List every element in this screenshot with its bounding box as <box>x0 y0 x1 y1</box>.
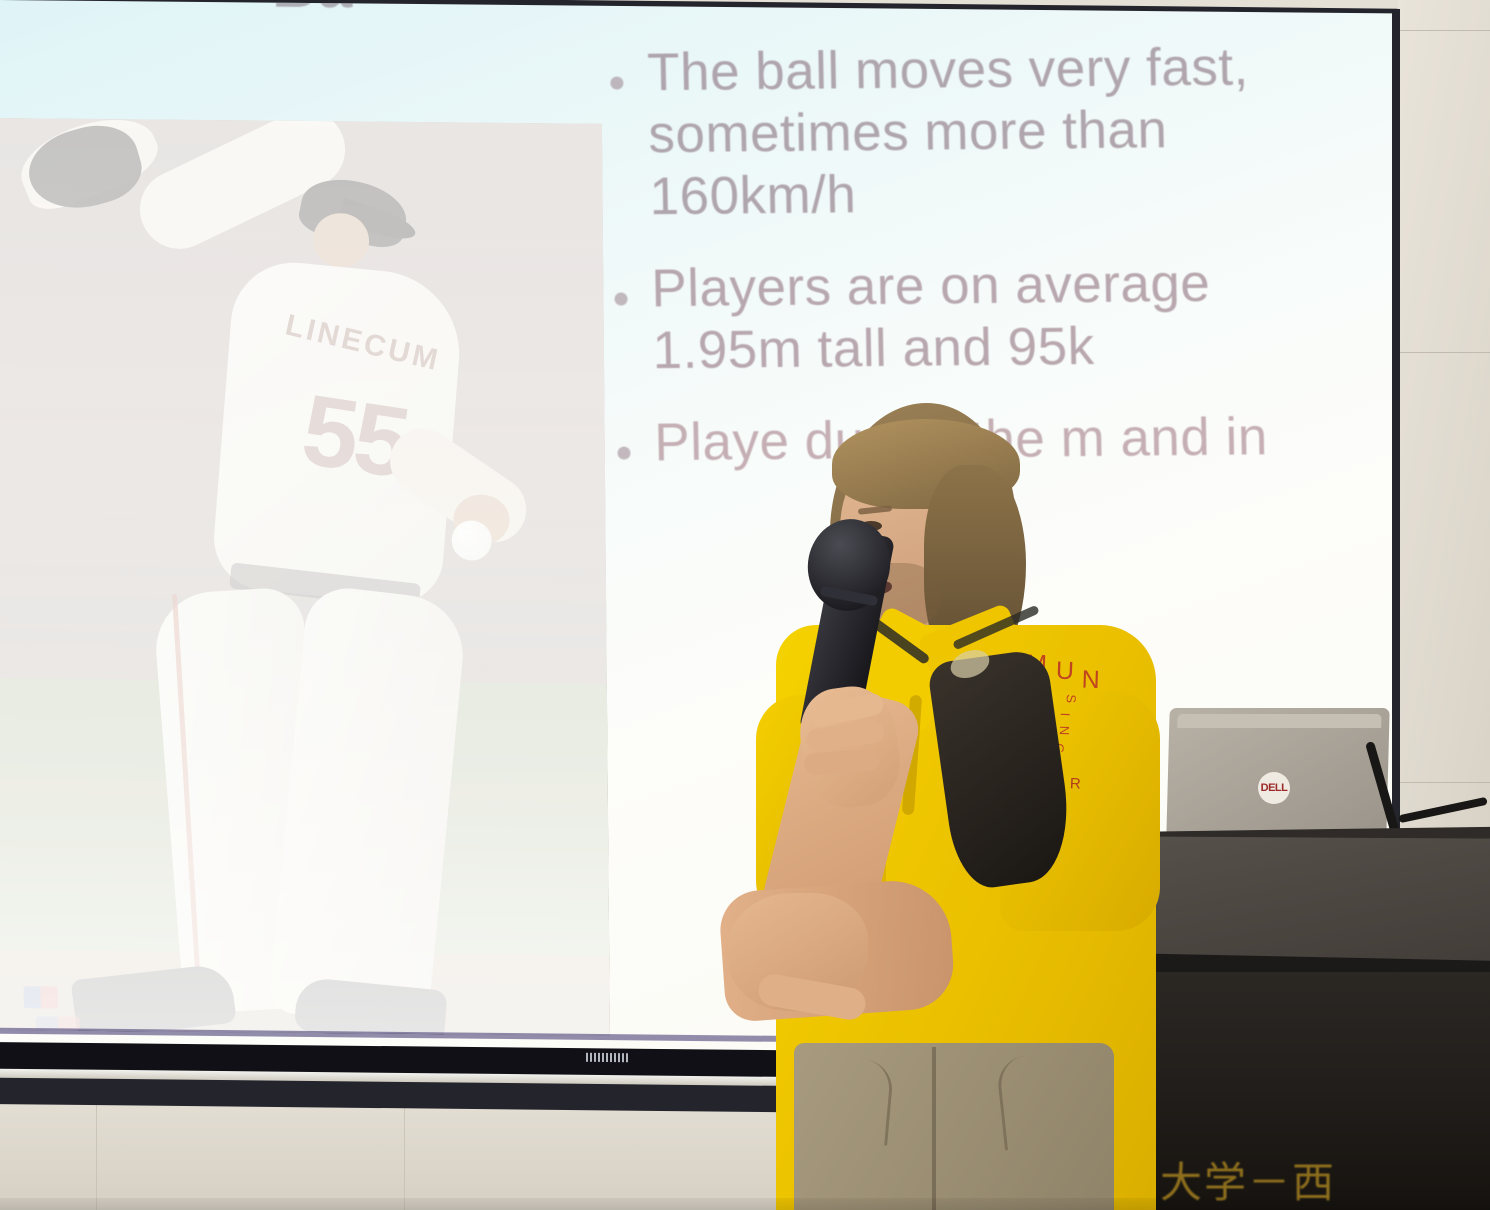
room-wall-right-panel <box>1398 0 1490 900</box>
logo-letter: N <box>1081 666 1100 696</box>
bullet-dot-icon <box>617 446 630 459</box>
screen-brand-logo-icon <box>586 1053 628 1062</box>
wall-seam <box>404 1098 405 1210</box>
wall-seam <box>1400 782 1490 783</box>
pants-pocket <box>820 1056 894 1146</box>
image-bottom-edge <box>0 1198 1490 1210</box>
logo-letter: S <box>1064 694 1079 703</box>
slide-title: Ba <box>272 0 353 22</box>
bullet-dot-icon <box>610 76 623 89</box>
bullet-dot-icon <box>614 292 627 305</box>
logo-letter: U <box>1055 657 1074 687</box>
presenter: M U N S I N G W E A R <box>700 395 1130 1210</box>
pants-pocket <box>995 1052 1075 1151</box>
wall-seam <box>1400 30 1490 31</box>
projector-washout-gradient <box>0 118 610 1036</box>
dell-logo-text: DELL <box>1261 782 1288 794</box>
bullet-text: Players are on average 1.95m tall and 95… <box>651 252 1316 382</box>
laptop-lid-bezel <box>1177 714 1381 728</box>
bullet-text: The ball moves very fast, sometimes more… <box>647 36 1313 228</box>
logo-letter: N <box>1057 726 1072 736</box>
logo-letter: R <box>1070 775 1081 792</box>
bullet-item: The ball moves very fast, sometimes more… <box>610 36 1313 229</box>
dell-logo-icon: DELL <box>1258 772 1290 804</box>
slide-photo-baseball-pitcher: LINECUM 55 <box>0 118 610 1036</box>
pants-seam <box>932 1047 936 1210</box>
presentation-scene: Ba LINECUM 55 <box>0 0 1490 1210</box>
wall-seam <box>1400 352 1490 353</box>
logo-letter: I <box>1058 712 1073 716</box>
bullet-item: Players are on average 1.95m tall and 95… <box>614 252 1316 383</box>
wall-seam <box>96 1098 97 1210</box>
